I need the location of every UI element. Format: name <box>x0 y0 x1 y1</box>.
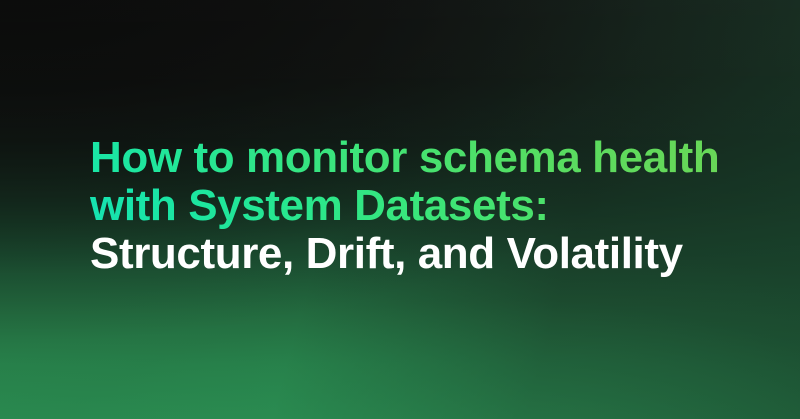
hero-card: How to monitor schema health with System… <box>0 0 800 419</box>
headline-line-3: Structure, Drift, and Volatility <box>90 230 730 278</box>
headline: How to monitor schema health with System… <box>90 134 730 278</box>
headline-line-2: with System Datasets: <box>90 182 730 230</box>
headline-line-1: How to monitor schema health <box>90 134 730 182</box>
